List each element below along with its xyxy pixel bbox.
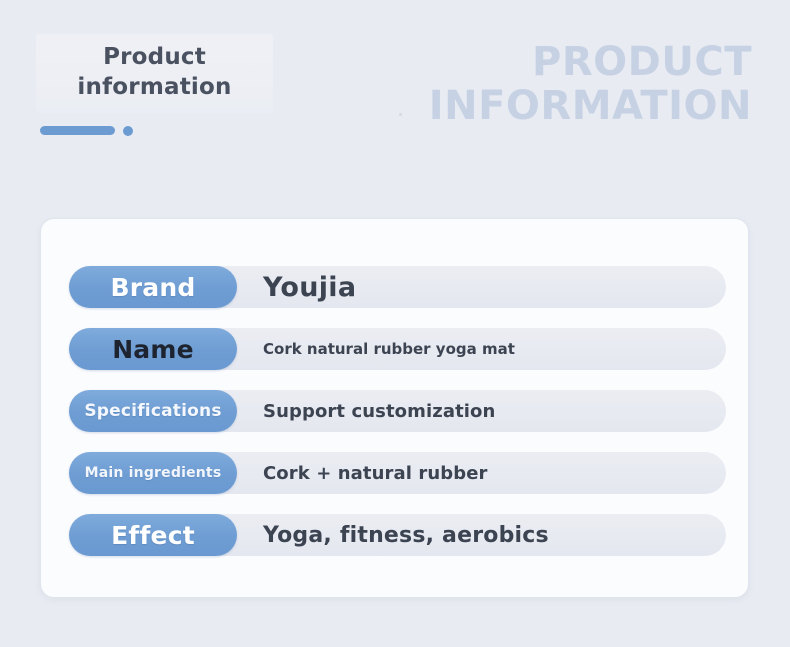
decorative-speck [399,113,402,116]
table-row: NameCork natural rubber yoga mat [41,328,748,370]
page-title: Product information [36,42,273,102]
spec-label-text: Brand [111,275,196,300]
indicator-dot[interactable] [123,126,133,136]
spec-label-pill: Main ingredients [69,452,237,494]
table-row: SpecificationsSupport customization [41,390,748,432]
spec-label-text: Main ingredients [85,466,222,480]
spec-value-text: Support customization [263,390,495,432]
spec-label-text: Effect [111,523,195,548]
decorative-heading: PRODUCT INFORMATION [429,40,752,128]
product-spec-card: BrandYoujiaNameCork natural rubber yoga … [40,218,749,598]
spec-label-pill: Specifications [69,390,237,432]
spec-value-text: Yoga, fitness, aerobics [263,514,549,556]
spec-label-pill: Name [69,328,237,370]
table-row: BrandYoujia [41,266,748,308]
spec-label-pill: Brand [69,266,237,308]
table-row: EffectYoga, fitness, aerobics [41,514,748,556]
spec-value-text: Cork + natural rubber [263,452,488,494]
table-row: Main ingredientsCork + natural rubber [41,452,748,494]
spec-label-text: Name [112,337,194,362]
indicator-bar-active[interactable] [40,126,115,135]
spec-value-text: Cork natural rubber yoga mat [263,328,515,370]
title-progress-indicator[interactable] [40,126,133,135]
spec-label-pill: Effect [69,514,237,556]
spec-row-list: BrandYoujiaNameCork natural rubber yoga … [41,266,748,576]
page-header: Product information PRODUCT INFORMATION [0,0,790,180]
spec-value-text: Youjia [263,266,356,308]
spec-label-text: Specifications [84,403,221,420]
